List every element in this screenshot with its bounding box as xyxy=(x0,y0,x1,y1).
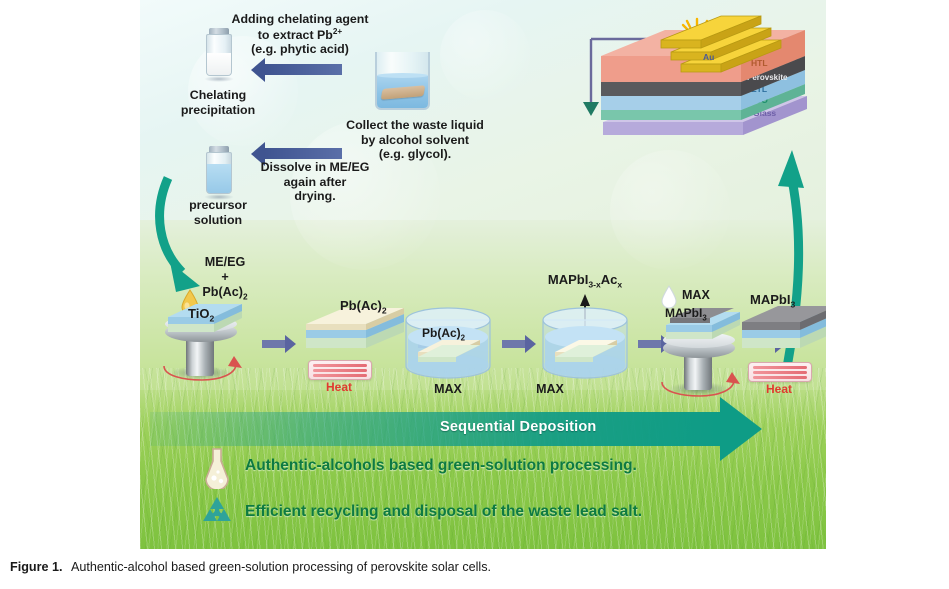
sequential-deposition-arrow xyxy=(150,412,720,446)
precursor-line1: ME/EG xyxy=(202,255,247,270)
vial-precipitate xyxy=(207,53,231,75)
sequential-deposition-arrowhead xyxy=(720,397,762,461)
dissolve-note-line1: Dissolve in ME/EG xyxy=(261,160,370,175)
vial-body xyxy=(206,34,232,76)
arrow-to-chelating xyxy=(264,64,342,75)
precursor-vial-label: precursor solution xyxy=(189,198,247,227)
figure-caption-label: Figure 1. xyxy=(10,560,62,574)
chelating-vial-label-line2: precipitation xyxy=(181,103,255,118)
bullet-green-processing: Authentic-alcohols based green-solution … xyxy=(245,457,637,475)
sequential-deposition-label: Sequential Deposition xyxy=(440,419,596,435)
device-layer-label-au: Au xyxy=(703,52,714,62)
step4-caption: MAX xyxy=(536,382,564,397)
step6-label: MAPbI3 xyxy=(750,292,795,310)
vial-liquid xyxy=(207,164,231,193)
step2-heat-label: Heat xyxy=(308,380,370,394)
chelating-vial-label: Chelating precipitation xyxy=(181,88,255,117)
step2-pbac2-film xyxy=(300,308,410,360)
vial-shadow xyxy=(204,76,234,82)
waste-liquid-beaker xyxy=(375,52,430,110)
step6-hotplate-icon xyxy=(748,362,812,382)
step2-hotplate-icon xyxy=(308,360,372,380)
chelating-agent-note: Adding chelating agent to extract Pb2+ (… xyxy=(232,12,369,57)
precursor-solution-vial xyxy=(203,146,235,196)
figure-caption-text: Authentic-alcohol based green-solution p… xyxy=(71,560,491,574)
dissolve-note-line2: again after xyxy=(261,175,370,190)
step2-label: Pb(Ac)2 xyxy=(340,298,387,316)
dissolve-note-line3: drying. xyxy=(261,189,370,204)
step3-caption: MAX xyxy=(434,382,462,397)
dissolve-note: Dissolve in ME/EG again after drying. xyxy=(261,160,370,204)
step4-max-dish xyxy=(535,292,635,382)
flask-icon xyxy=(202,447,232,489)
figure-caption: Figure 1. Authentic-alcohol based green-… xyxy=(10,560,940,574)
arrow-step1-to-step2 xyxy=(262,340,286,348)
step6-mapbi3-film xyxy=(736,306,826,360)
vial-body xyxy=(206,152,232,194)
precursor-drop-label: ME/EG + Pb(Ac)2 xyxy=(202,255,247,302)
chelating-note-line3: (e.g. phytic acid) xyxy=(232,42,369,57)
chelating-note-line1: Adding chelating agent xyxy=(232,12,369,27)
step1-label: TiO2 xyxy=(188,306,214,324)
chelating-precipitation-vial xyxy=(203,28,235,78)
chelating-note-line2: to extract Pb2+ xyxy=(232,27,369,43)
collect-note-line1: Collect the waste liquid xyxy=(346,118,484,133)
collect-waste-note: Collect the waste liquid by alcohol solv… xyxy=(346,118,484,162)
step6-heat-label: Heat xyxy=(748,382,810,396)
step5-rotation-arrow-icon xyxy=(652,368,744,398)
step3-max-dish xyxy=(398,304,498,382)
collect-note-line2: by alcohol solvent xyxy=(346,133,484,148)
beaker-liquid-surface xyxy=(377,73,428,78)
precursor-line2: + xyxy=(202,270,247,285)
solar-cell-device: Glass FTO ETL Perovskite HTL xyxy=(575,4,825,164)
step5-drop-label: MAX xyxy=(682,288,710,303)
precursor-vial-label-line1: precursor xyxy=(189,198,247,213)
bullet-recycling-disposal: Efficient recycling and disposal of the … xyxy=(245,503,642,521)
device-layer-label-htl: HTL xyxy=(751,58,768,68)
figure-image: Adding chelating agent to extract Pb2+ (… xyxy=(140,0,826,549)
step5-label: MAPbI3 xyxy=(665,306,707,323)
device-contact xyxy=(583,102,599,116)
step4-label: MAPbI3-xAcx xyxy=(548,272,622,290)
arrow-to-precursor xyxy=(264,148,342,159)
step3-label: Pb(Ac)2 xyxy=(422,326,465,343)
chelating-vial-label-line1: Chelating xyxy=(181,88,255,103)
arrow-step3-to-step4 xyxy=(502,340,526,348)
bokeh-circle xyxy=(610,150,730,270)
recycle-icon xyxy=(198,494,236,532)
bokeh-circle xyxy=(440,10,530,100)
precursor-vial-label-line2: solution xyxy=(189,213,247,228)
step1-rotation-arrow-icon xyxy=(154,352,246,382)
